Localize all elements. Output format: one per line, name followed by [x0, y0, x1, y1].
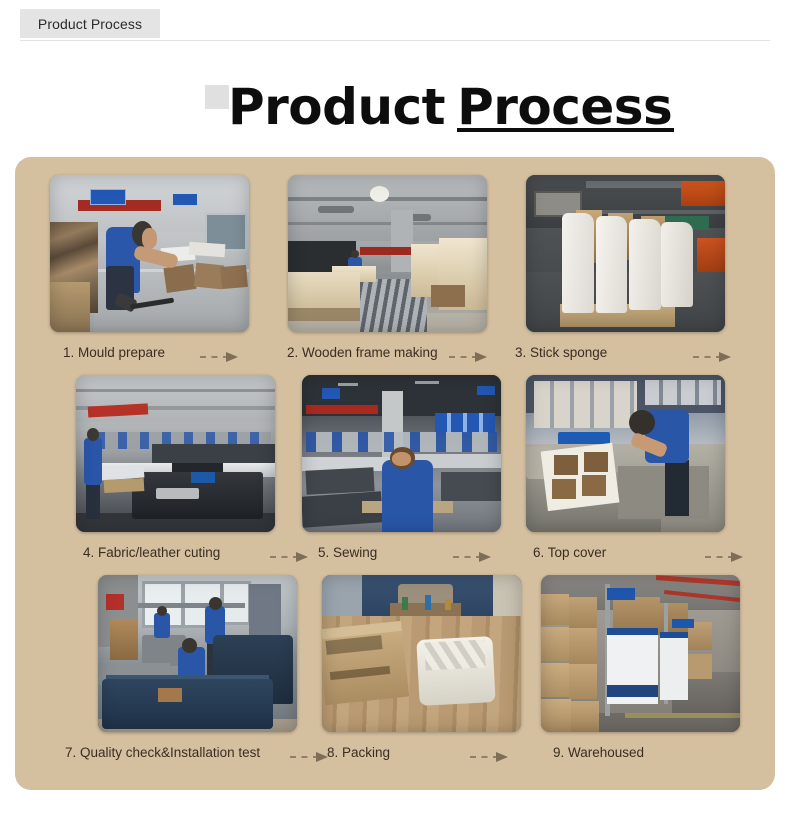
- page-title: ProductProcess: [228, 72, 672, 142]
- step-image-7[interactable]: [98, 575, 297, 732]
- process-row-3: 7. Quality check&Installation test 8. Pa…: [15, 575, 775, 775]
- step-arrow-5: [453, 552, 495, 562]
- process-grid: 1. Mould prepare 2. Wooden frame making …: [15, 157, 775, 790]
- step-image-1[interactable]: [50, 175, 249, 332]
- page-title-word-2-underlined: Process: [457, 78, 672, 136]
- heading-accent-square: [205, 85, 229, 109]
- process-row-2: 4. Fabric/leather cuting 5. Sewing 6. To…: [15, 375, 775, 575]
- step-caption-6: 6. Top cover: [533, 538, 606, 568]
- step-image-6[interactable]: [526, 375, 725, 532]
- process-row-1: 1. Mould prepare 2. Wooden frame making …: [15, 175, 775, 375]
- step-caption-1: 1. Mould prepare: [63, 338, 165, 368]
- page-header: ProductProcess: [0, 72, 790, 150]
- step-caption-5: 5. Sewing: [318, 538, 377, 568]
- step-caption-4: 4. Fabric/leather cuting: [83, 538, 220, 568]
- step-caption-3: 3. Stick sponge: [515, 338, 607, 368]
- step-caption-8: 8. Packing: [327, 738, 390, 768]
- step-image-3[interactable]: [526, 175, 725, 332]
- step-image-4[interactable]: [76, 375, 275, 532]
- step-image-2[interactable]: [288, 175, 487, 332]
- step-caption-2: 2. Wooden frame making: [287, 338, 438, 368]
- process-panel: 1. Mould prepare 2. Wooden frame making …: [15, 157, 775, 790]
- tab-product-process[interactable]: Product Process: [20, 9, 160, 38]
- step-image-8[interactable]: [322, 575, 521, 732]
- tab-label: Product Process: [38, 16, 142, 32]
- step-image-5[interactable]: [302, 375, 501, 532]
- step-arrow-2: [449, 352, 491, 362]
- top-tab-bar: Product Process: [0, 0, 790, 46]
- step-arrow-4: [270, 552, 312, 562]
- step-image-9[interactable]: [541, 575, 740, 732]
- step-arrow-8: [470, 752, 512, 762]
- step-arrow-7: [290, 752, 332, 762]
- step-caption-9: 9. Warehoused: [553, 738, 644, 768]
- step-arrow-6: [705, 552, 747, 562]
- tabbar-divider: [20, 40, 770, 41]
- step-arrow-1: [200, 352, 242, 362]
- step-arrow-3: [693, 352, 735, 362]
- step-caption-7: 7. Quality check&Installation test: [65, 738, 260, 768]
- page-title-word-1: Product: [228, 78, 445, 136]
